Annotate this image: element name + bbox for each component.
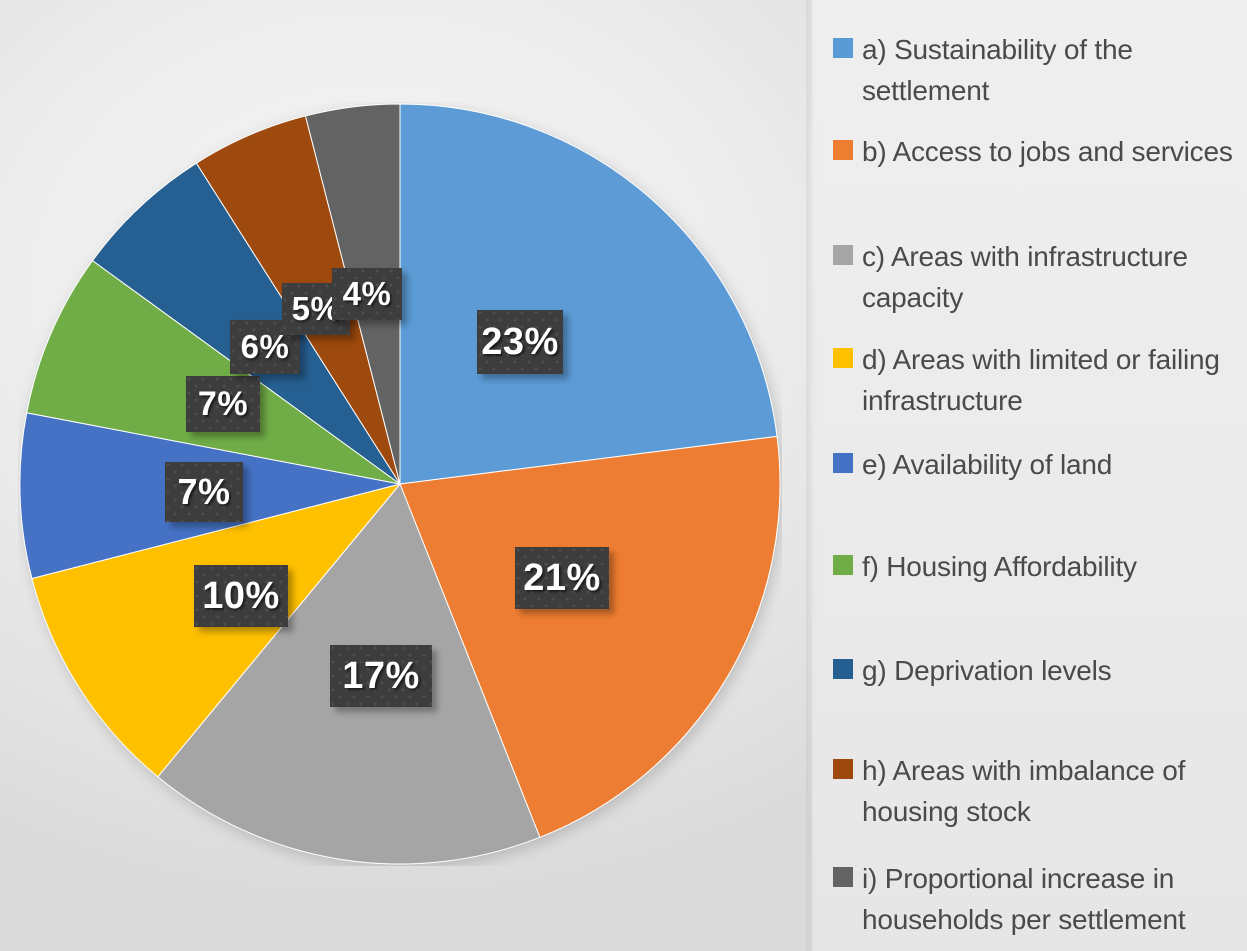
legend-item-i[interactable]: i) Proportional increase in households p…	[833, 858, 1245, 940]
legend-label-a: a) Sustainability of the settlement	[862, 29, 1245, 111]
pie-chart-screenshot: 23% 21% 17% 10% 7% 7% 6% 5% 4% a) Sustai…	[0, 0, 1247, 951]
legend-item-d[interactable]: d) Areas with limited or failing infrast…	[833, 339, 1245, 421]
data-label-f: 7%	[186, 376, 260, 432]
legend-label-g: g) Deprivation levels	[862, 650, 1111, 691]
pie-slice-group	[20, 104, 780, 864]
legend-label-c: c) Areas with infrastructure capacity	[862, 236, 1245, 318]
legend-swatch-h-icon	[833, 759, 853, 779]
legend-item-a[interactable]: a) Sustainability of the settlement	[833, 29, 1245, 111]
legend-swatch-e-icon	[833, 453, 853, 473]
data-label-a: 23%	[477, 310, 563, 374]
data-label-b: 21%	[515, 547, 609, 609]
legend-swatch-d-icon	[833, 348, 853, 368]
data-label-c: 17%	[330, 645, 432, 707]
data-label-e: 7%	[165, 462, 243, 522]
legend-item-g[interactable]: g) Deprivation levels	[833, 650, 1245, 691]
legend-label-b: b) Access to jobs and services	[862, 131, 1233, 172]
legend-item-h[interactable]: h) Areas with imbalance of housing stock	[833, 750, 1245, 832]
legend-label-i: i) Proportional increase in households p…	[862, 858, 1245, 940]
legend-label-h: h) Areas with imbalance of housing stock	[862, 750, 1245, 832]
pie-chart	[18, 102, 782, 866]
legend-item-b[interactable]: b) Access to jobs and services	[833, 131, 1245, 172]
pie-svg	[18, 102, 782, 866]
legend-swatch-b-icon	[833, 140, 853, 160]
legend-label-e: e) Availability of land	[862, 444, 1112, 485]
legend-label-f: f) Housing Affordability	[862, 546, 1137, 587]
legend-item-f[interactable]: f) Housing Affordability	[833, 546, 1245, 587]
chart-legend: a) Sustainability of the settlement b) A…	[815, 0, 1247, 951]
legend-swatch-f-icon	[833, 555, 853, 575]
legend-swatch-i-icon	[833, 867, 853, 887]
pie-slice-a[interactable]	[400, 104, 777, 484]
legend-swatch-a-icon	[833, 38, 853, 58]
data-label-i: 4%	[332, 268, 402, 320]
legend-item-e[interactable]: e) Availability of land	[833, 444, 1245, 485]
legend-swatch-g-icon	[833, 659, 853, 679]
data-label-d: 10%	[194, 565, 288, 627]
legend-item-c[interactable]: c) Areas with infrastructure capacity	[833, 236, 1245, 318]
legend-label-d: d) Areas with limited or failing infrast…	[862, 339, 1245, 421]
legend-swatch-c-icon	[833, 245, 853, 265]
